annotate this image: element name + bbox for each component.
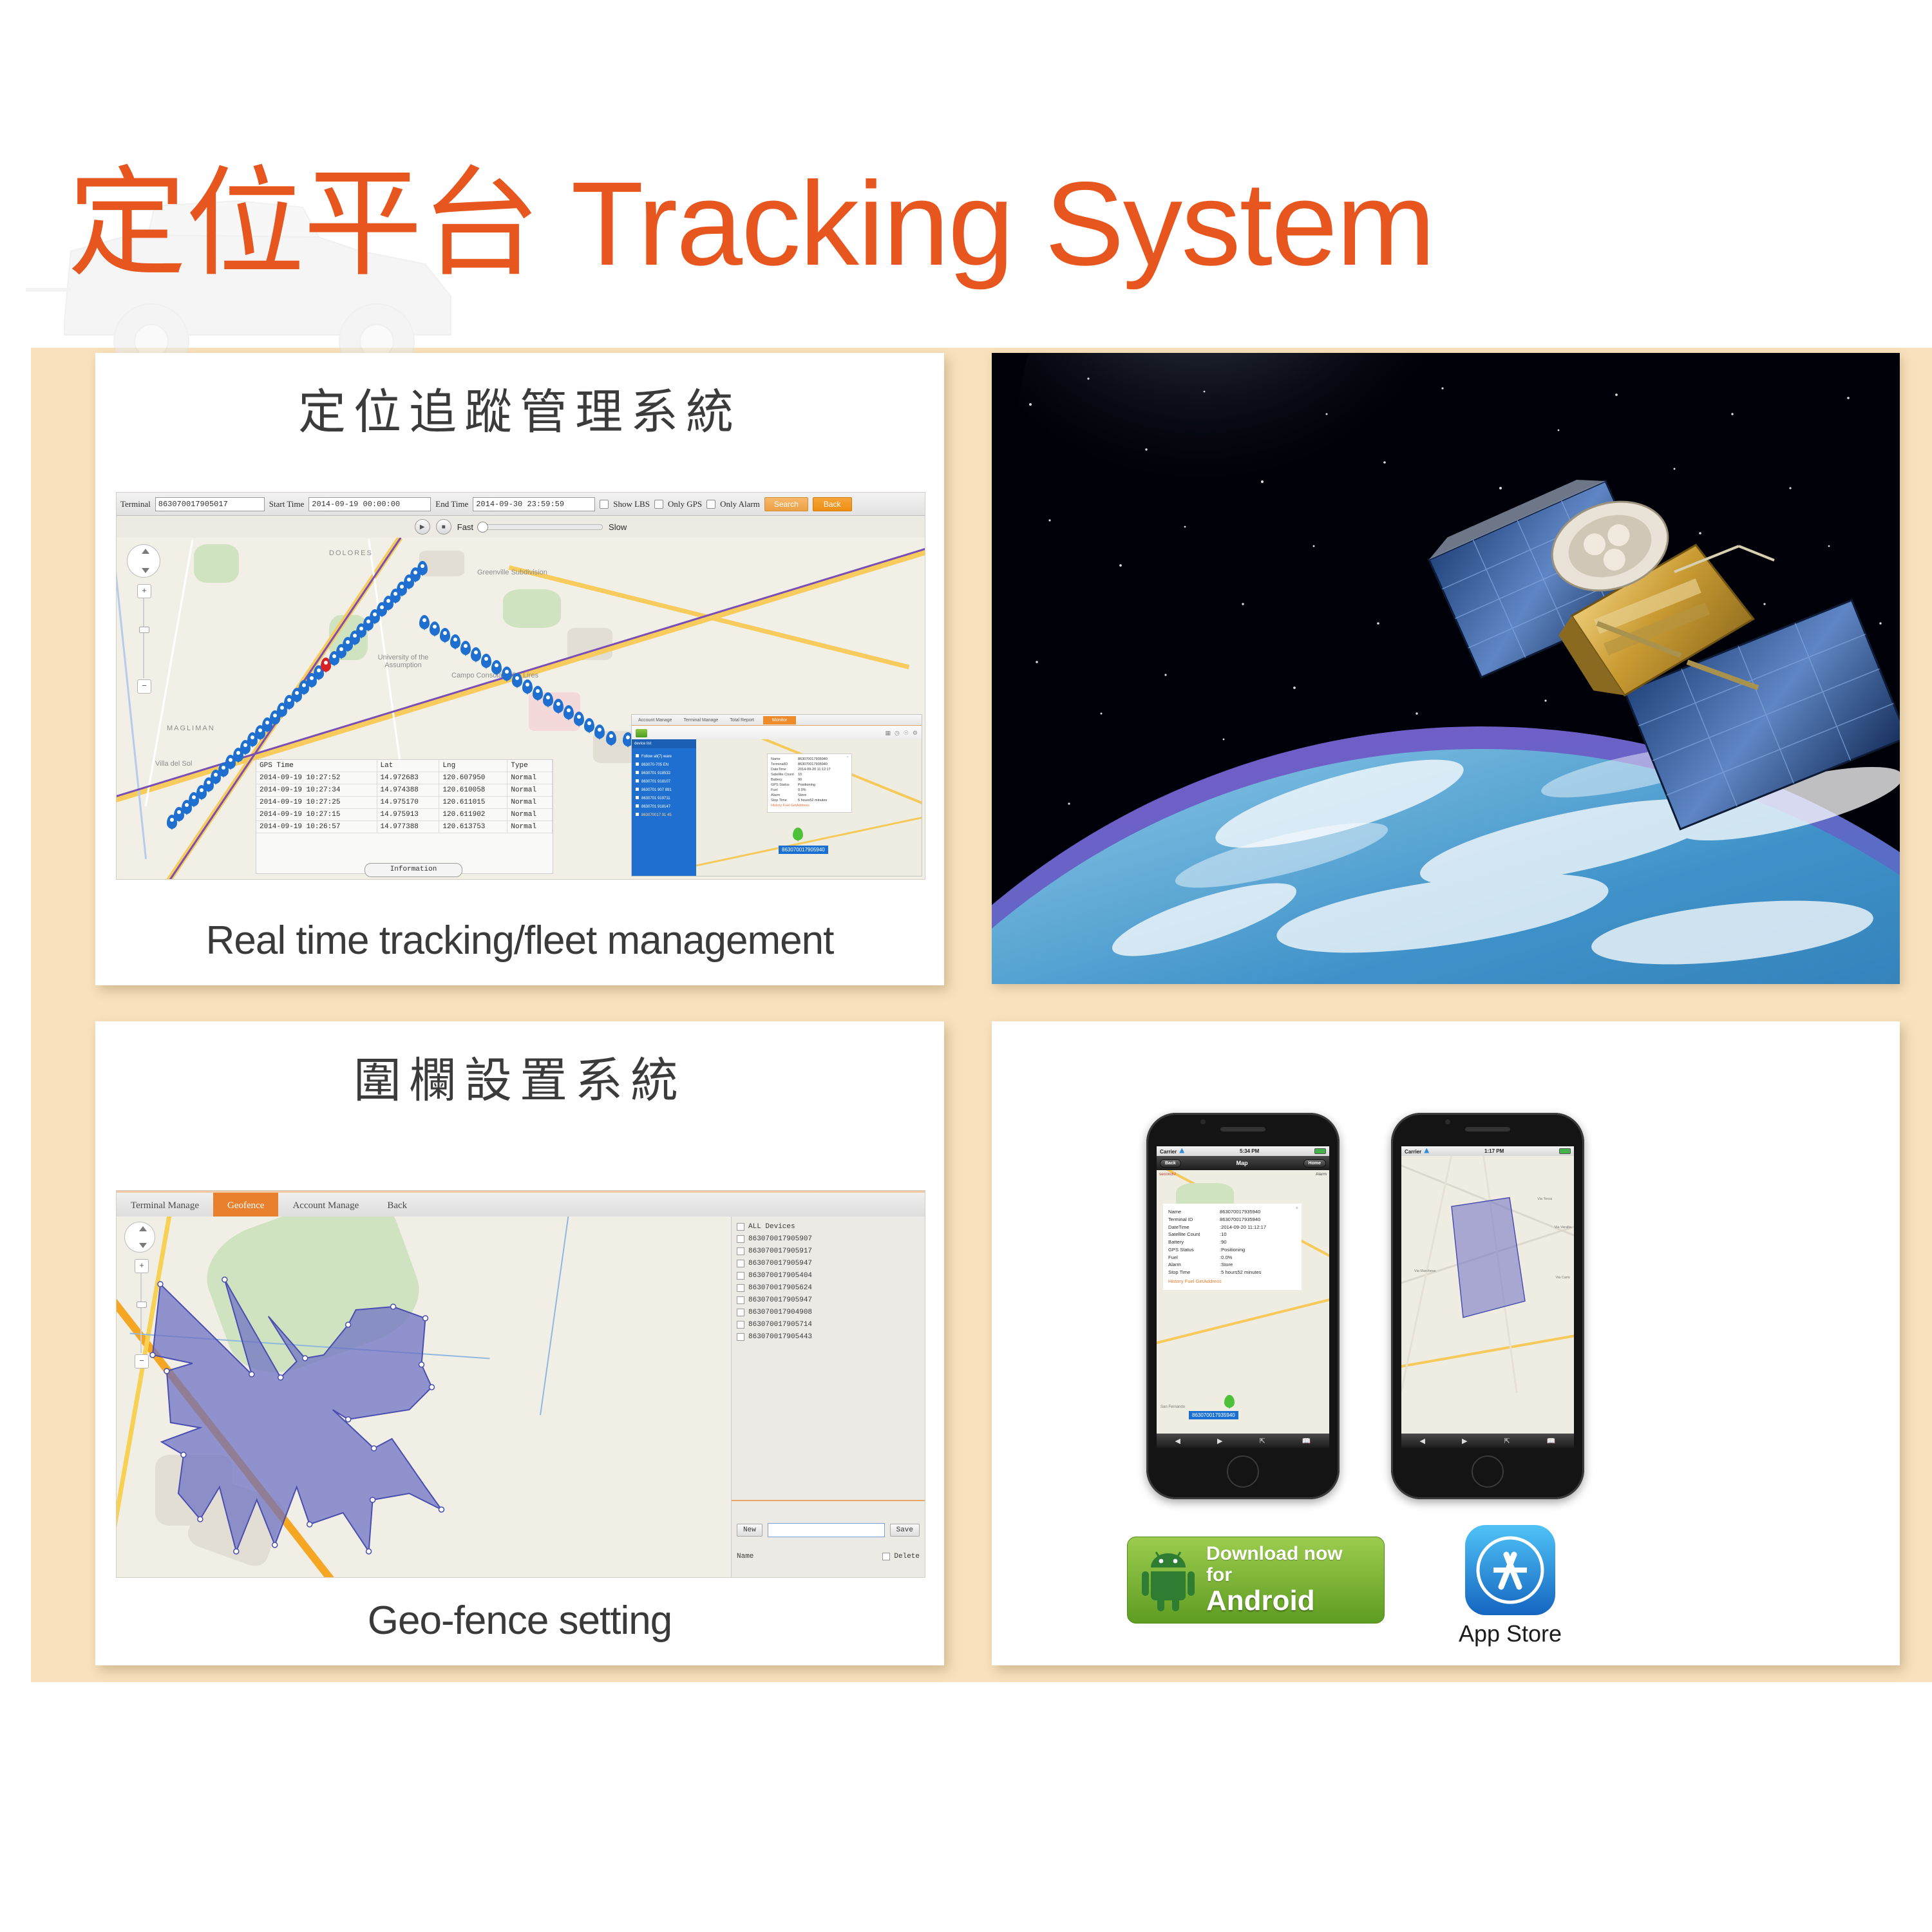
route-pin-marker[interactable] <box>553 699 563 713</box>
table-row[interactable]: 2014-09-19 10:27:3414.974388120.610058No… <box>256 784 553 797</box>
device-checkbox[interactable] <box>737 1333 744 1341</box>
device-label: 863070017905947 <box>748 1296 812 1304</box>
share-icon[interactable]: ⇱ <box>1504 1437 1510 1445</box>
phone-popup-value: :90 <box>1220 1238 1227 1246</box>
android-robot-icon <box>1142 1549 1195 1611</box>
alarm-right-text[interactable]: Alarm <box>1316 1172 1327 1177</box>
pin-dot <box>310 676 314 680</box>
col-type: Type <box>507 760 553 772</box>
geofence-device-row[interactable]: 863070017905907 <box>737 1233 920 1245</box>
phone-popup-key: Name <box>1168 1208 1220 1216</box>
phone-left-screen[interactable]: Carrier 5:34 PM Back Map Home seconds! A… <box>1157 1146 1329 1448</box>
tab-account-manage[interactable]: Account Manage <box>278 1193 373 1218</box>
pin-dot <box>400 585 404 589</box>
card-mobile: Carrier 5:34 PM Back Map Home seconds! A… <box>992 1021 1900 1665</box>
battery-icon <box>1314 1148 1326 1154</box>
table-row[interactable]: 2014-09-19 10:26:5714.977388120.613753No… <box>256 821 553 833</box>
route-pin-marker[interactable] <box>533 686 543 700</box>
popup-battery-label: Battery <box>771 778 798 783</box>
pin-dot <box>433 625 437 629</box>
table-header-row: GPS Time Lat Lng Type <box>256 760 553 772</box>
tab-geofence[interactable]: Geofence <box>213 1193 278 1218</box>
only-alarm-checkbox[interactable] <box>706 500 715 509</box>
pin-dot <box>236 751 240 755</box>
map-label: Greenville Subdivision <box>477 569 547 576</box>
phone-popup-value: :5 hours52 minutes <box>1220 1269 1262 1276</box>
pin-dot <box>484 657 488 661</box>
subtab-account-manage[interactable]: Account Manage <box>636 716 675 724</box>
device-label: 863070017905714 <box>748 1321 812 1329</box>
pin-dot <box>609 734 613 738</box>
save-button[interactable]: Save <box>890 1524 920 1537</box>
next-icon[interactable]: ▶ <box>1462 1437 1467 1445</box>
phone-left-map[interactable]: seconds! Alarm × Name863070017935940Term… <box>1157 1170 1329 1434</box>
pin-dot <box>443 631 447 635</box>
only-alarm-label: Only Alarm <box>720 499 760 509</box>
device-checkbox[interactable] <box>737 1260 744 1267</box>
phone-map-marker-icon[interactable] <box>1224 1395 1235 1408</box>
pin-dot <box>332 654 336 658</box>
wifi-icon <box>1424 1148 1429 1153</box>
pin-dot <box>373 612 377 616</box>
popup-terminal-value: 863070017905940 <box>798 762 828 768</box>
grid-icon[interactable]: ▦ <box>885 730 891 737</box>
geofence-device-row[interactable]: 863070017905947 <box>737 1257 920 1269</box>
phone-popup-value: 863070017935940 <box>1220 1208 1260 1216</box>
pin-dot <box>317 668 321 672</box>
device-list-panel[interactable]: device list Follow all(7) ware863070-705… <box>632 739 696 876</box>
device-label: 863070017904908 <box>748 1309 812 1316</box>
pin-dot <box>170 818 174 822</box>
pin-dot <box>251 735 254 739</box>
device-label: 863070017905907 <box>748 1235 812 1243</box>
app-store-badge[interactable]: App Store <box>1436 1525 1584 1647</box>
device-info-popup[interactable]: × Name863070017905940 TerminalID86307001… <box>767 753 852 813</box>
bookmarks-icon[interactable]: 📖 <box>1547 1437 1556 1445</box>
tracking-map[interactable]: DOLORES MAGLIMAN Villa del Sol Greenvill… <box>117 538 925 879</box>
satellite-photo <box>992 353 1900 984</box>
alarm-left-text: seconds! <box>1159 1172 1176 1177</box>
geofence-device-row[interactable]: 863070017905624 <box>737 1282 920 1294</box>
information-button[interactable]: Information <box>365 863 462 877</box>
device-checkbox[interactable] <box>737 1272 744 1280</box>
card-geofence-caption: Geo-fence setting <box>95 1598 944 1643</box>
route-pin-marker[interactable] <box>450 634 460 649</box>
table-cell: 120.611015 <box>439 797 507 809</box>
geofence-zoom-in-button[interactable]: + <box>135 1259 149 1273</box>
popup-name-value: 863070017905940 <box>798 757 828 762</box>
home-button[interactable] <box>1227 1455 1259 1488</box>
route-pin-marker[interactable] <box>491 660 502 674</box>
geofence-device-list[interactable]: ALL Devices 8630700179059078630700179059… <box>732 1217 925 1501</box>
route-pin-marker[interactable] <box>471 647 481 661</box>
android-badge-line2: for <box>1206 1565 1343 1586</box>
device-list-item[interactable]: 8630701 918532 <box>634 769 694 777</box>
device-checkbox[interactable] <box>737 1309 744 1316</box>
device-label: 863070017905947 <box>748 1260 812 1267</box>
phone-right-statusbar: Carrier 1:17 PM <box>1401 1146 1574 1156</box>
gps-table: GPS Time Lat Lng Type 2014-09-19 10:27:5… <box>256 760 553 833</box>
popup-alarm-label: Alarm <box>771 793 798 799</box>
popup-battery-value: 90 <box>798 778 802 783</box>
popup-gps-label: GPS Status <box>771 783 798 788</box>
phone-left-statusbar: Carrier 5:34 PM <box>1157 1146 1329 1156</box>
geofence-device-row[interactable]: 863070017905917 <box>737 1245 920 1257</box>
popup-fuel-value: 0.0% <box>798 788 806 793</box>
route-pin-marker[interactable] <box>430 621 440 636</box>
geofence-form-row: New Save <box>737 1523 920 1537</box>
popup-alarm-value: Store <box>798 793 806 799</box>
device-checkbox[interactable] <box>737 1284 744 1292</box>
phone-popup-key: Alarm <box>1168 1261 1220 1269</box>
popup-name-label: Name <box>771 757 798 762</box>
subwindow-tabs: Account Manage Terminal Manage Total Rep… <box>632 715 922 726</box>
device-checkbox[interactable] <box>737 1321 744 1329</box>
route-pin-marker[interactable] <box>606 731 616 745</box>
close-icon[interactable]: × <box>847 755 849 761</box>
submap[interactable]: × Name863070017905940 TerminalID86307001… <box>696 739 922 876</box>
phone-marker-label: 863070017935940 <box>1189 1411 1238 1419</box>
route-pin-marker[interactable] <box>574 712 584 726</box>
fence-name-input[interactable] <box>768 1523 885 1537</box>
pin-dot <box>295 691 299 695</box>
pin-dot <box>265 721 269 724</box>
monitor-subwindow[interactable]: Account Manage Terminal Manage Total Rep… <box>631 714 922 876</box>
android-badge-line3: Android <box>1206 1586 1343 1616</box>
geofence-app-screenshot: Terminal Manage Geofence Account Manage … <box>116 1190 925 1578</box>
android-download-badge[interactable]: Download now for Android <box>1127 1537 1385 1624</box>
table-cell: Normal <box>507 797 553 809</box>
route-pin-marker[interactable] <box>417 561 428 575</box>
table-cell: 120.611902 <box>439 809 507 821</box>
nav-home-button[interactable]: Home <box>1303 1159 1326 1168</box>
table-cell: 2014-09-19 10:27:52 <box>256 772 377 784</box>
device-list-item[interactable]: 8630701 919711 <box>634 794 694 802</box>
speaker-grill <box>1465 1127 1510 1132</box>
col-lat: Lat <box>377 760 439 772</box>
pin-dot <box>273 714 277 717</box>
tab-back[interactable]: Back <box>373 1193 421 1218</box>
popup-links[interactable]: History Fuel GetAddress <box>771 804 848 809</box>
start-time-input[interactable]: 2014-09-19 00:00:00 <box>308 497 431 511</box>
pause-icon[interactable]: ■ <box>436 519 451 535</box>
play-icon[interactable]: ▶ <box>415 519 430 535</box>
map-label: DOLORES <box>329 549 373 557</box>
pin-dot <box>526 683 529 687</box>
speaker-grill <box>1220 1127 1265 1132</box>
clock-label: 1:17 PM <box>1484 1148 1504 1154</box>
subwindow-header: ▦ ◷ ☉ ⚙ <box>632 726 922 741</box>
subtab-total-report[interactable]: Total Report <box>727 716 757 724</box>
speed-slider[interactable] <box>479 524 603 530</box>
pin-dot <box>243 743 247 747</box>
popup-gps-value: Positioning <box>798 783 815 788</box>
geofence-zoom-control[interactable]: + − <box>135 1259 147 1368</box>
table-cell: 14.972683 <box>377 772 439 784</box>
terminal-input[interactable]: 863070017905017 <box>155 497 265 511</box>
nav-title: Map <box>1236 1160 1248 1166</box>
popup-stop-label: Stop Time <box>771 799 798 804</box>
gear-icon[interactable]: ⚙ <box>913 730 918 737</box>
next-icon[interactable]: ▶ <box>1217 1437 1222 1445</box>
table-cell: Normal <box>507 821 553 833</box>
popup-stop-value: 5 hours52 minutes <box>798 799 827 804</box>
street-label: Via Terza <box>1537 1197 1552 1201</box>
only-gps-label: Only GPS <box>668 499 702 509</box>
prev-icon[interactable]: ◀ <box>1420 1437 1425 1445</box>
phone-popup-row: Battery:90 <box>1168 1238 1296 1246</box>
home-button[interactable] <box>1472 1455 1504 1488</box>
share-icon[interactable]: ⇱ <box>1260 1437 1265 1445</box>
phone-popup-key: Terminal ID <box>1168 1216 1220 1224</box>
geofence-zoom-out-button[interactable]: − <box>135 1354 149 1368</box>
phone-info-popup[interactable]: × Name863070017935940Terminal ID86307001… <box>1163 1204 1302 1290</box>
chart-icon[interactable]: ◷ <box>895 730 900 737</box>
slow-label: Slow <box>609 522 627 532</box>
back-button[interactable]: Back <box>813 497 852 511</box>
col-lng: Lng <box>439 760 507 772</box>
search-button[interactable]: Search <box>764 497 808 511</box>
route-pin-marker[interactable] <box>543 692 553 706</box>
table-cell: 120.610058 <box>439 784 507 797</box>
subtab-monitor[interactable]: Monitor <box>763 716 796 724</box>
route-pin-marker[interactable] <box>584 718 594 732</box>
geofence-panel: + − ALL Devices 863070017905907863070017… <box>117 1217 925 1577</box>
popup-terminal-label: TerminalID <box>771 762 798 768</box>
geofence-device-row[interactable]: 863070017905947 <box>737 1294 920 1306</box>
tracking-toolbar: Terminal 863070017905017 Start Time 2014… <box>117 493 925 516</box>
subwindow-body: device list Follow all(7) ware863070-705… <box>632 739 922 876</box>
phone-popup-row: Fuel:0.0% <box>1168 1254 1296 1262</box>
zoom-in-button[interactable]: + <box>137 584 151 598</box>
phone-popup-value: :10 <box>1220 1231 1227 1238</box>
show-lbs-checkbox[interactable] <box>600 500 609 509</box>
device-list-item[interactable]: 863070-705 EN <box>634 761 694 769</box>
pin-dot <box>407 578 411 582</box>
nav-back-button[interactable]: Back <box>1160 1159 1181 1168</box>
pin-dot <box>207 781 211 784</box>
phone-right-screen[interactable]: Carrier 1:17 PM Via Varalta Via Terza Vi… <box>1401 1146 1574 1448</box>
pin-dot <box>287 698 291 702</box>
white-left-band <box>0 0 31 1932</box>
map-pan-control[interactable] <box>127 544 160 578</box>
fast-label: Fast <box>457 522 473 532</box>
device-label: 863070017905917 <box>748 1247 812 1255</box>
phone-popup-links[interactable]: History Fuel GetAddress <box>1168 1278 1296 1285</box>
pin-dot <box>359 627 363 630</box>
only-gps-checkbox[interactable] <box>654 500 663 509</box>
street-label: Via Marchese <box>1414 1269 1436 1273</box>
route-pin-marker[interactable] <box>481 654 491 668</box>
table-row[interactable]: 2014-09-19 10:27:2514.975170120.611015No… <box>256 797 553 809</box>
table-cell: 14.977388 <box>377 821 439 833</box>
pin-dot <box>422 618 426 622</box>
card-tracking: 定位追蹤管理系統 Terminal 863070017905017 Start … <box>95 353 944 985</box>
geofence-polygon[interactable] <box>117 1217 731 1577</box>
pin-dot <box>505 670 509 674</box>
geofence-sidebar: ALL Devices 8630700179059078630700179059… <box>731 1217 925 1577</box>
geofence-map[interactable]: + − <box>117 1217 731 1577</box>
card-geofence: 圍欄設置系統 Terminal Manage Geofence Account … <box>95 1021 944 1665</box>
device-label: 863070017905624 <box>748 1284 812 1292</box>
camera-icon <box>1445 1119 1450 1124</box>
pin-dot <box>464 644 468 648</box>
phone-popup-value: :0.0% <box>1220 1254 1232 1262</box>
pin-dot <box>598 728 601 732</box>
col-gps-time: GPS Time <box>256 760 377 772</box>
geofence-device-row[interactable]: 863070017904908 <box>737 1306 920 1318</box>
map-label: University of the Assumption <box>374 654 432 669</box>
android-badge-line1: Download now <box>1206 1544 1343 1564</box>
phone-popup-key: DateTime <box>1168 1224 1220 1231</box>
pin-dot <box>366 620 370 623</box>
phone-right-map[interactable]: Via Varalta Via Terza Via Marchese Via C… <box>1401 1156 1574 1434</box>
wifi-icon <box>1179 1148 1184 1153</box>
delete-checkbox[interactable] <box>882 1553 890 1560</box>
route-pin-marker[interactable] <box>419 615 430 629</box>
phone-popup-value: :2014-09-20 11:12:17 <box>1220 1224 1266 1231</box>
device-list-item[interactable]: 8630701 918147 <box>634 802 694 811</box>
end-time-label: End Time <box>435 499 468 509</box>
playback-bar: ▶ ■ Fast Slow <box>117 516 925 538</box>
popup-fuel-label: Fuel <box>771 788 798 793</box>
pin-dot <box>229 758 232 762</box>
pin-dot <box>495 663 498 667</box>
device-all-label: ALL Devices <box>748 1223 795 1231</box>
phone-popup-key: Battery <box>1168 1238 1220 1246</box>
device-list-item[interactable]: 8630701 907 891 <box>634 786 694 794</box>
route-pin-marker[interactable] <box>512 673 522 687</box>
pin-dot <box>386 599 390 603</box>
show-lbs-label: Show LBS <box>613 499 650 509</box>
tracking-app-screenshot: Terminal 863070017905017 Start Time 2014… <box>116 492 925 880</box>
device-label: 863070017905404 <box>748 1272 812 1280</box>
pin-dot <box>185 803 189 807</box>
phone-left-navbar: Back Map Home <box>1157 1156 1329 1170</box>
zoom-slider-handle[interactable] <box>139 627 149 633</box>
pin-dot <box>346 640 350 644</box>
route-pin-marker[interactable] <box>522 679 533 694</box>
page-title-latin: Tracking System <box>571 158 1434 290</box>
route-pin-marker[interactable] <box>460 641 471 655</box>
table-cell: 2014-09-19 10:27:15 <box>256 809 377 821</box>
popup-close-icon[interactable]: × <box>1296 1206 1298 1213</box>
phone-popup-row: Alarm:Store <box>1168 1261 1296 1269</box>
geofence-name-delete-row: Name Delete <box>737 1553 920 1560</box>
route-pin-marker[interactable] <box>594 724 605 739</box>
phone-popup-key: GPS Status <box>1168 1246 1220 1254</box>
table-cell: 14.975913 <box>377 809 439 821</box>
end-time-input[interactable]: 2014-09-30 23:59:59 <box>473 497 595 511</box>
phone-popup-key: Satellite Count <box>1168 1231 1220 1238</box>
phone-right: Carrier 1:17 PM Via Varalta Via Terza Vi… <box>1391 1113 1584 1499</box>
device-checkbox[interactable] <box>737 1235 744 1243</box>
phone-map-place-label: San Fernando <box>1160 1405 1185 1409</box>
clock-label: 5:34 PM <box>1240 1148 1259 1154</box>
app-logo-icon <box>636 729 647 737</box>
geofence-device-row[interactable]: 863070017905404 <box>737 1269 920 1282</box>
pin-dot <box>556 702 560 706</box>
bookmarks-icon[interactable]: 📖 <box>1302 1437 1311 1445</box>
pin-dot <box>587 721 591 725</box>
table-cell: Normal <box>507 784 553 797</box>
phone-popup-row: Satellite Count:10 <box>1168 1231 1296 1238</box>
map-zoom-control[interactable]: + − <box>137 584 150 694</box>
new-button[interactable]: New <box>737 1524 762 1537</box>
pin-dot <box>302 683 306 687</box>
device-list-item[interactable]: 863070017 91 45 <box>634 811 694 819</box>
pin-dot <box>393 592 397 596</box>
device-list-item[interactable]: Follow all(7) ware <box>634 752 694 761</box>
phone-popup-key: Fuel <box>1168 1254 1220 1262</box>
device-checkbox[interactable] <box>737 1296 744 1304</box>
app-store-icon <box>1465 1525 1555 1615</box>
pin-dot <box>474 650 478 654</box>
phone-popup-value: :Store <box>1220 1261 1233 1269</box>
page-title: 定位平台 Tracking System <box>68 164 1434 284</box>
table-row[interactable]: 2014-09-19 10:27:5214.972683120.607950No… <box>256 772 553 784</box>
page-title-cjk: 定位平台 <box>68 154 539 293</box>
route-pin-marker[interactable] <box>563 705 574 719</box>
checkbox-all[interactable] <box>737 1223 744 1231</box>
white-bottom-band <box>0 1682 1932 1932</box>
card-geofence-heading: 圍欄設置系統 <box>95 1042 944 1111</box>
phone-popup-row: Name863070017935940 <box>1168 1208 1296 1216</box>
table-cell: 14.975170 <box>377 797 439 809</box>
pin-dot <box>222 766 225 770</box>
pin-dot <box>280 706 284 710</box>
map-marker-icon[interactable] <box>793 828 803 840</box>
phone-popup-row: GPS Status:Positioning <box>1168 1246 1296 1254</box>
pin-dot <box>536 689 540 693</box>
phone-popup-value: :Positioning <box>1220 1246 1245 1254</box>
map-label: Villa del Sol <box>155 760 192 768</box>
speed-slider-handle[interactable] <box>477 522 488 533</box>
battery-icon <box>1559 1148 1571 1154</box>
device-checkbox[interactable] <box>737 1247 744 1255</box>
phone-popup-row: DateTime:2014-09-20 11:12:17 <box>1168 1224 1296 1231</box>
popup-datetime-value: 2014-09-20 11:12:17 <box>798 768 831 773</box>
geofence-device-row[interactable]: 863070017905443 <box>737 1331 920 1343</box>
phone-popup-row: Terminal ID863070017935940 <box>1168 1216 1296 1224</box>
tab-terminal-manage[interactable]: Terminal Manage <box>117 1193 213 1218</box>
popup-satellite-value: 10 <box>798 773 802 778</box>
terminal-label: Terminal <box>120 499 151 509</box>
pin-dot <box>626 735 630 739</box>
geofence-zoom-slider-handle[interactable] <box>137 1302 147 1308</box>
zoom-out-button[interactable]: − <box>137 679 151 694</box>
gps-data-table[interactable]: GPS Time Lat Lng Type 2014-09-19 10:27:5… <box>256 759 553 874</box>
map-label: MAGLIMAN <box>167 724 215 732</box>
subtab-terminal-manage[interactable]: Terminal Manage <box>681 716 721 724</box>
table-cell: 120.607950 <box>439 772 507 784</box>
pin-dot <box>258 728 262 732</box>
pin-dot <box>339 647 343 651</box>
route-pin-marker[interactable] <box>502 667 512 681</box>
phone-right-toolbar: ◀ ▶ ⇱ 📖 <box>1401 1434 1574 1448</box>
table-row[interactable]: 2014-09-19 10:27:1514.975913120.611902No… <box>256 809 553 821</box>
route-pin-marker[interactable] <box>440 628 450 642</box>
app-store-label: App Store <box>1436 1620 1584 1647</box>
user-icon[interactable]: ☉ <box>904 730 909 737</box>
geofence-device-row[interactable]: 863070017905714 <box>737 1318 920 1331</box>
device-list-item[interactable]: 8630701 918107 <box>634 777 694 786</box>
table-cell: 2014-09-19 10:26:57 <box>256 821 377 833</box>
prev-icon[interactable]: ◀ <box>1175 1437 1180 1445</box>
device-all-row[interactable]: ALL Devices <box>737 1220 920 1233</box>
geofence-pan-control[interactable] <box>124 1222 155 1253</box>
table-cell: Normal <box>507 809 553 821</box>
